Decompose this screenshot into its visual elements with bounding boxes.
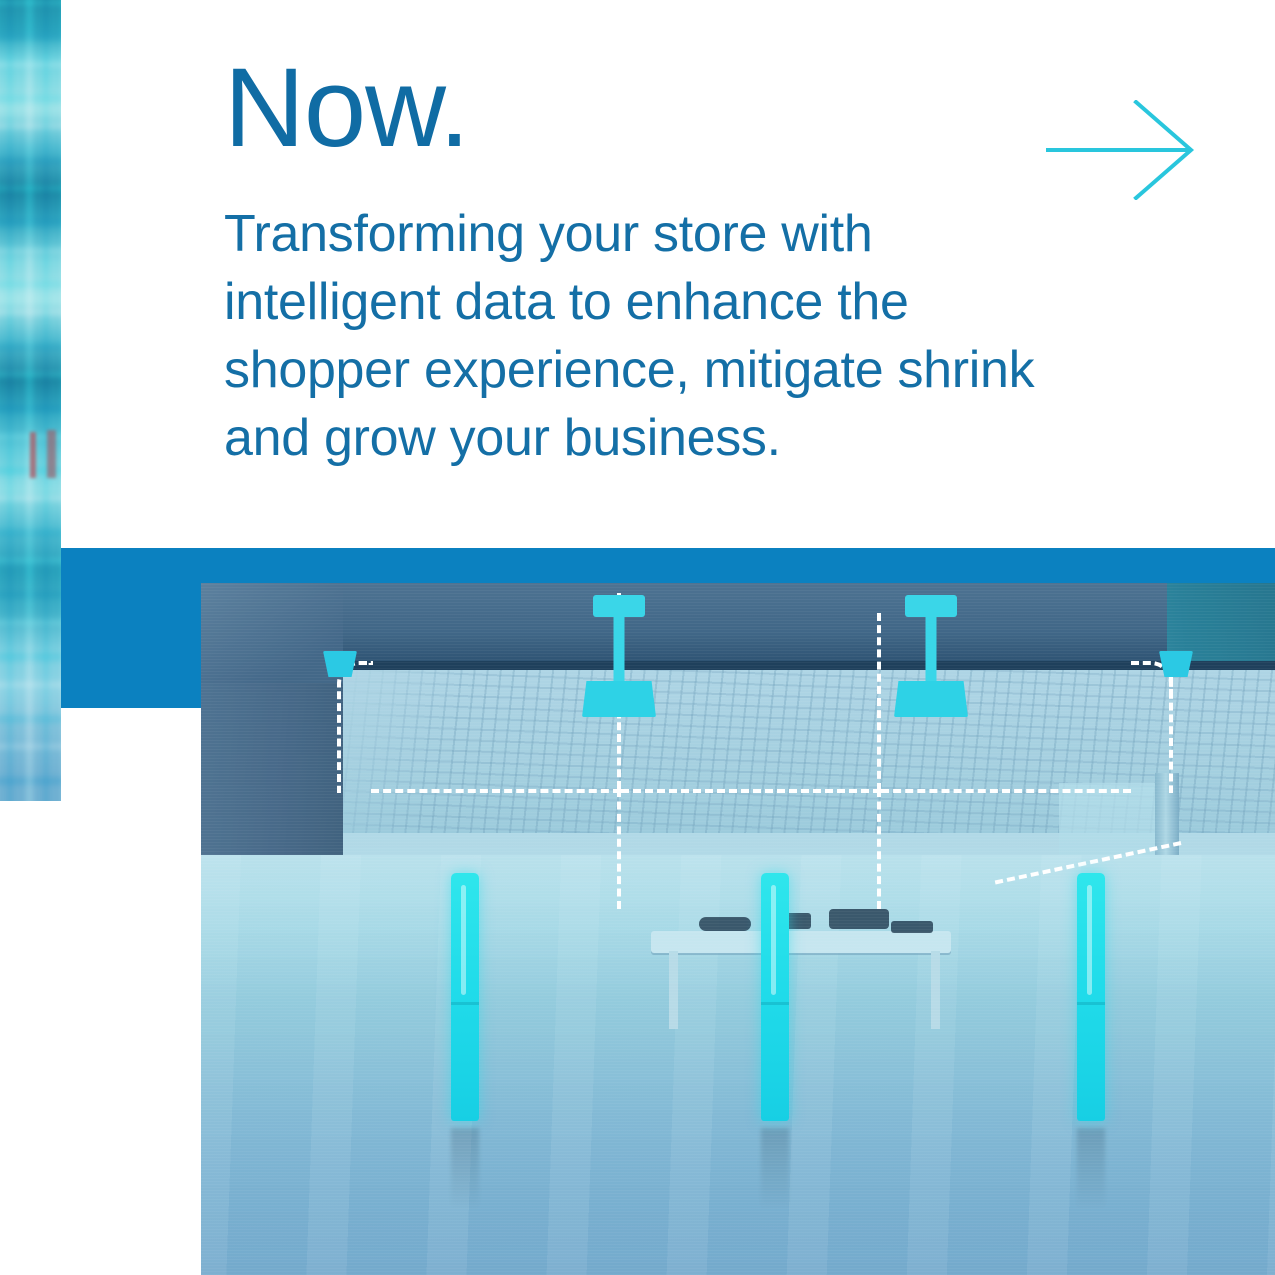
pedestal-reflection bbox=[451, 1128, 479, 1224]
accent-band bbox=[61, 548, 1275, 583]
promo-slide: Now. Transforming your store with intell… bbox=[0, 0, 1275, 1275]
store-photo bbox=[201, 583, 1275, 1275]
pedestal-reflection bbox=[761, 1128, 789, 1224]
copy-block: Now. Transforming your store with intell… bbox=[224, 52, 1054, 472]
page-title: Now. bbox=[224, 52, 1054, 164]
body-line-1: Transforming your store with bbox=[224, 200, 1054, 268]
strip-red-detail bbox=[30, 432, 36, 478]
body-line-2: intelligent data to enhance the bbox=[224, 268, 1054, 336]
soffit-edge-shadow bbox=[343, 661, 1275, 670]
body-line-3: shopper experience, mitigate shrink bbox=[224, 336, 1054, 404]
pedestal-reflection bbox=[1077, 1128, 1105, 1224]
arrow-right-icon[interactable] bbox=[1044, 100, 1196, 200]
display-table-leg bbox=[931, 951, 940, 1029]
table-merchandise bbox=[891, 921, 933, 933]
strip-red-detail-2 bbox=[47, 430, 56, 478]
display-table-top bbox=[651, 931, 951, 953]
left-accent-photo-strip bbox=[0, 0, 61, 801]
table-merchandise bbox=[699, 917, 751, 931]
accent-block bbox=[61, 548, 201, 708]
entrance-corner bbox=[201, 583, 343, 683]
display-table-leg bbox=[669, 951, 678, 1029]
store-scene bbox=[201, 583, 1275, 1275]
strip-highlights bbox=[0, 0, 61, 801]
body-line-4: and grow your business. bbox=[224, 404, 1054, 472]
body-copy: Transforming your store with intelligent… bbox=[224, 200, 1054, 472]
table-merchandise bbox=[777, 913, 811, 929]
table-merchandise bbox=[829, 909, 889, 929]
